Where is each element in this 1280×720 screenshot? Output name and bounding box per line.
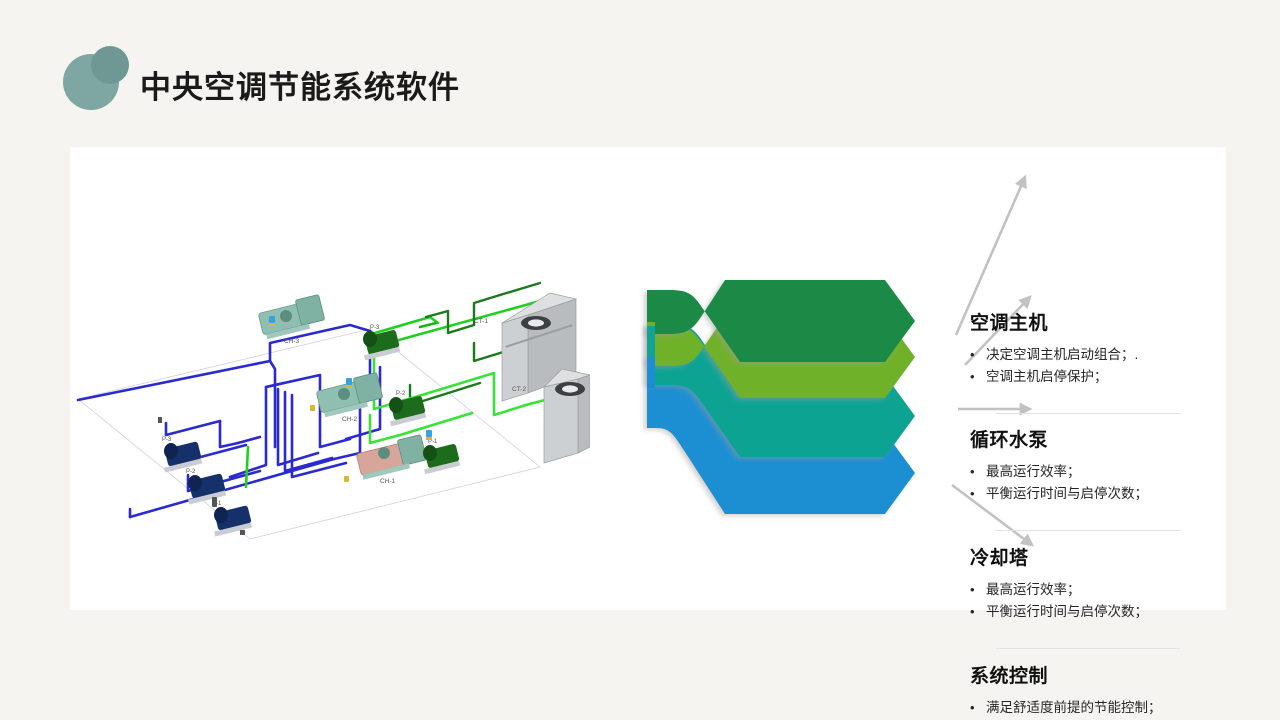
list-item: • 最高运行效率；	[970, 461, 1226, 483]
list-item: • 平衡运行时间与启停次数；	[970, 601, 1226, 623]
chiller-ch3: CH-3	[258, 294, 325, 345]
logo-circle-small-icon	[91, 46, 129, 84]
bullet-dot-icon: •	[970, 697, 986, 719]
list-item: • 最高运行效率；	[970, 579, 1226, 601]
plant-schematic-diagram: CH-3 CH-2 CH-1	[70, 147, 590, 610]
svg-text:CT-2: CT-2	[512, 386, 526, 393]
feature-panel: 空调主机 • 决定空调主机启动组合；. • 空调主机启停保护； 循环水泵 • 最…	[970, 147, 1226, 610]
bullet-dot-icon: •	[970, 366, 986, 388]
list-item: • 空调主机启停保护；	[970, 366, 1226, 388]
page-header: 中央空调节能系统软件	[0, 0, 1280, 147]
bullet-text: 最高运行效率；	[986, 579, 1081, 601]
bullet-dot-icon: •	[970, 601, 986, 623]
svg-text:CH-1: CH-1	[380, 478, 396, 485]
svg-text:CT-1: CT-1	[474, 318, 488, 325]
pump-blue-p3: P-3	[162, 437, 202, 473]
section-divider	[996, 648, 1180, 649]
bullet-text: 平衡运行时间与启停次数；	[986, 483, 1148, 505]
list-item: • 决定空调主机启动组合；.	[970, 344, 1226, 366]
section-title-pump: 循环水泵	[970, 429, 1226, 453]
list-item: • 满足舒适度前提的节能控制；	[970, 697, 1226, 719]
section-title-control: 系统控制	[970, 665, 1226, 689]
pump-blue-p1: P-1	[212, 501, 252, 537]
content-card: CH-3 CH-2 CH-1	[70, 147, 1226, 610]
feature-section-control: 系统控制 • 满足舒适度前提的节能控制；	[970, 665, 1226, 719]
bullet-text: 平衡运行时间与启停次数；	[986, 601, 1148, 623]
bullet-list-pump: • 最高运行效率； • 平衡运行时间与启停次数；	[970, 461, 1226, 505]
pump-blue-p2: P-2	[186, 469, 226, 505]
bullet-text: 决定空调主机启动组合；.	[986, 344, 1138, 366]
svg-text:CH-3: CH-3	[284, 338, 300, 345]
feature-section-tower: 冷却塔 • 最高运行效率； • 平衡运行时间与启停次数；	[970, 547, 1226, 623]
bullet-list-chiller: • 决定空调主机启动组合；. • 空调主机启停保护；	[970, 344, 1226, 388]
section-title-tower: 冷却塔	[970, 547, 1226, 571]
svg-text:P-2: P-2	[396, 391, 406, 397]
pump-green-p1: P-1	[423, 439, 460, 474]
bullet-list-control: • 满足舒适度前提的节能控制；	[970, 697, 1226, 719]
list-item: • 平衡运行时间与启停次数；	[970, 483, 1226, 505]
bullet-dot-icon: •	[970, 483, 986, 505]
svg-text:P-2: P-2	[186, 469, 196, 475]
bullet-dot-icon: •	[970, 344, 986, 366]
section-divider	[996, 413, 1180, 414]
svg-text:P-3: P-3	[162, 437, 172, 443]
bullet-text: 空调主机启停保护；	[986, 366, 1108, 388]
feature-section-chiller: 空调主机 • 决定空调主机启动组合；. • 空调主机启停保护；	[970, 312, 1226, 388]
bullet-dot-icon: •	[970, 579, 986, 601]
feature-section-pump: 循环水泵 • 最高运行效率； • 平衡运行时间与启停次数；	[970, 429, 1226, 505]
bullet-dot-icon: •	[970, 461, 986, 483]
chiller-ch1: CH-1	[356, 434, 427, 485]
page-title: 中央空调节能系统软件	[140, 62, 460, 107]
bullet-text: 满足舒适度前提的节能控制；	[986, 697, 1162, 719]
brand-logo	[63, 46, 131, 114]
bullet-text: 最高运行效率；	[986, 461, 1081, 483]
bullet-list-tower: • 最高运行效率； • 平衡运行时间与启停次数；	[970, 579, 1226, 623]
svg-text:P-3: P-3	[370, 325, 380, 331]
section-divider	[996, 530, 1180, 531]
section-title-chiller: 空调主机	[970, 312, 1226, 336]
svg-text:CH-2: CH-2	[342, 416, 358, 423]
